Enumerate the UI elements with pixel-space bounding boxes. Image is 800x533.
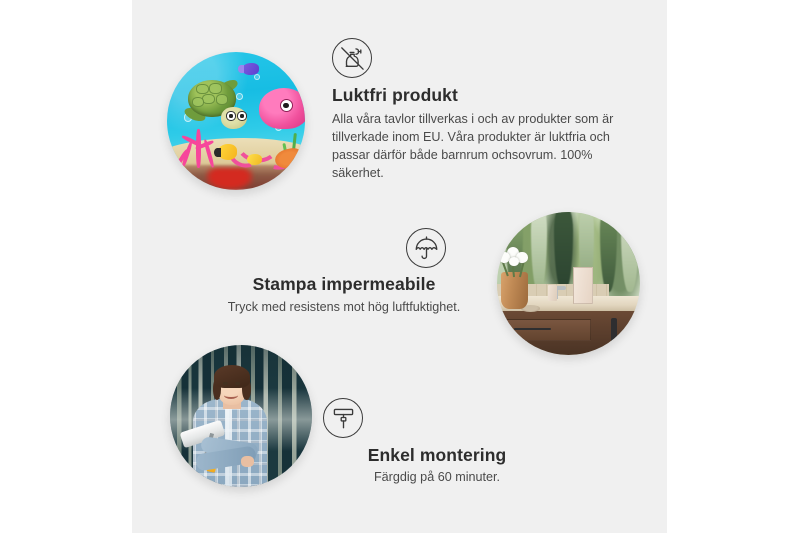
decorative-vase <box>501 272 528 309</box>
turtle-eye <box>237 111 246 120</box>
underwater-scene <box>167 52 305 190</box>
woman-eye <box>223 382 228 385</box>
feature-title: Luktfri produkt <box>332 85 622 106</box>
feature-description: Tryck med resistens mot hög luftfuktighe… <box>218 299 470 317</box>
product-image-woman-painter <box>170 345 312 487</box>
drawer-handle <box>514 328 551 330</box>
product-image-bathroom-wallpaper <box>497 212 640 355</box>
rolled-towel <box>573 267 594 303</box>
feature-description: Färgdig på 60 minuter. <box>322 469 552 487</box>
feature-block-easy-mounting: Enkel montering Färgdig på 60 minuter. <box>322 398 552 487</box>
no-fragrance-icon <box>332 38 372 78</box>
promo-infographic: Luktfri produkt Alla våra tavlor tillver… <box>0 0 800 533</box>
woman-hand <box>241 456 254 467</box>
fish-yellow-small <box>247 154 262 165</box>
feature-description: Alla våra tavlor tillverkas i och av pro… <box>332 111 622 183</box>
woman-smile <box>224 391 238 399</box>
blurred-red-object <box>206 168 253 190</box>
coral <box>178 127 219 168</box>
cabinet-handle <box>611 318 617 347</box>
feature-block-waterproof: Stampa impermeabile Tryck med resistens … <box>218 228 470 317</box>
woman-hair <box>214 365 250 388</box>
toothbrush-cup <box>548 285 557 301</box>
octopus-eye <box>280 99 293 112</box>
feature-title: Stampa impermeabile <box>218 274 470 295</box>
white-flowers <box>497 245 533 276</box>
paint-roller-icon <box>323 398 363 438</box>
turtle-eye <box>226 111 235 120</box>
woman-eye <box>235 382 240 385</box>
woman-painter-scene <box>170 345 312 487</box>
fish-yellow <box>218 144 237 159</box>
bathroom-scene <box>497 212 640 355</box>
vanity-drawer <box>503 319 592 341</box>
umbrella-icon <box>406 228 446 268</box>
feature-title: Enkel montering <box>322 445 552 466</box>
wooden-vanity <box>497 311 640 355</box>
product-image-underwater-mural <box>167 52 305 190</box>
feature-block-odour-free: Luktfri produkt Alla våra tavlor tillver… <box>332 38 622 183</box>
